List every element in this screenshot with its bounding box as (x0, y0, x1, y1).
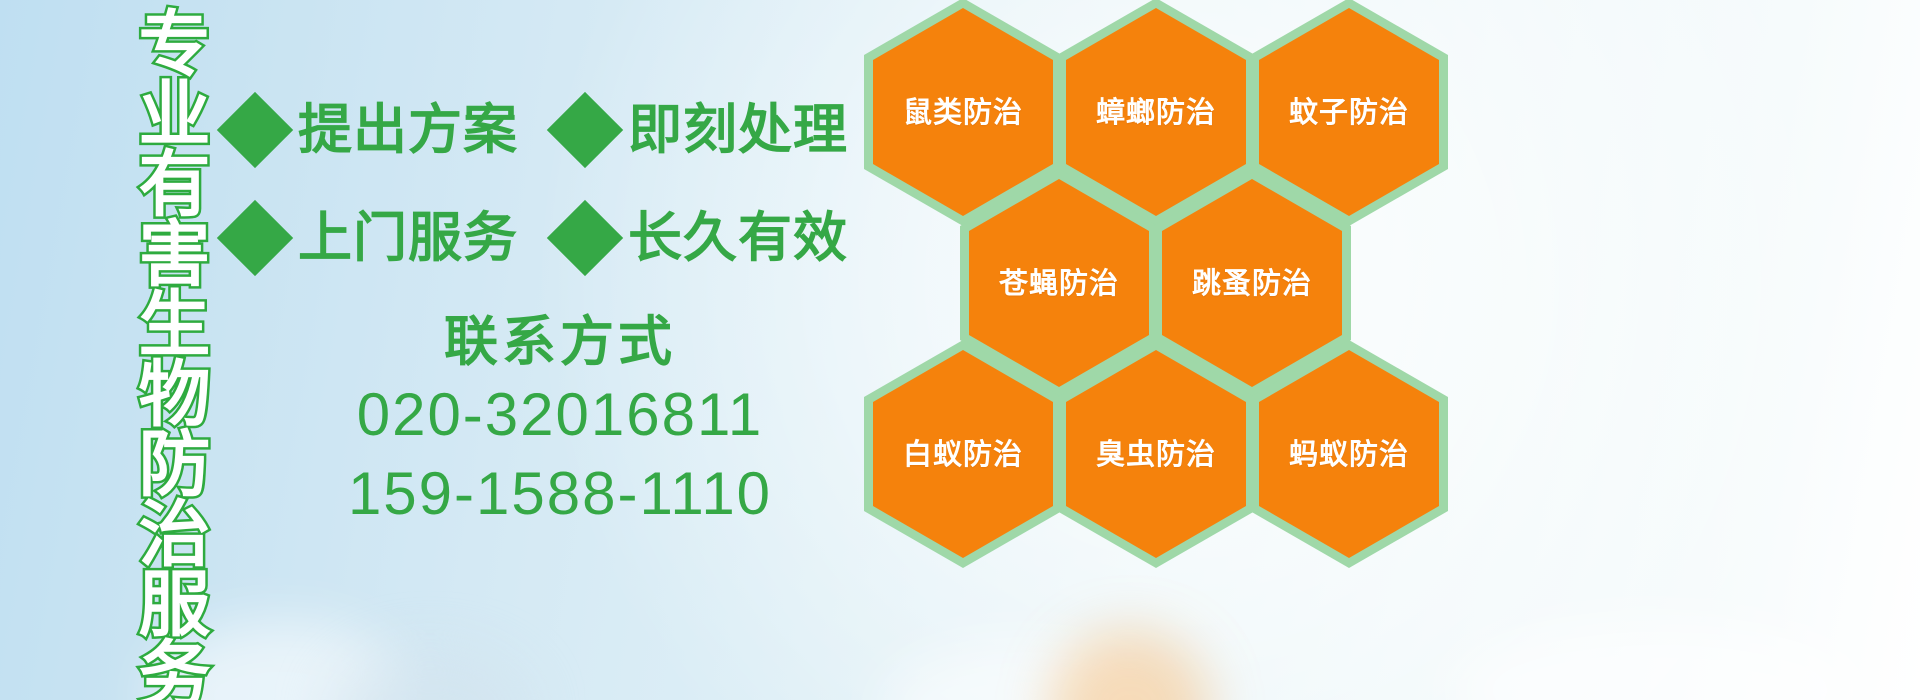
contact-heading: 联系方式 (300, 310, 820, 375)
hex-label: 跳蚤防治 (1192, 269, 1312, 298)
feature-row: 上门服务 长久有效 (228, 184, 868, 292)
vertical-headline: 专业有害生物防治服务 (112, 6, 204, 700)
background-blur-blob (330, 650, 530, 700)
feature-label: 即刻处理 (628, 103, 848, 157)
feature-item-door-to-door-service: 上门服务 (228, 211, 518, 265)
diamond-bullet-icon (547, 200, 623, 276)
hex-label: 臭虫防治 (1096, 440, 1216, 469)
feature-label: 上门服务 (298, 211, 518, 265)
feature-label: 提出方案 (298, 103, 518, 157)
feature-row: 提出方案 即刻处理 (228, 76, 868, 184)
feature-label: 长久有效 (628, 211, 848, 265)
background-blur-blob (1450, 620, 1870, 700)
diamond-bullet-icon (217, 200, 293, 276)
contact-phone-mobile[interactable]: 159-1588-1110 (300, 454, 820, 533)
contact-block: 联系方式 020-32016811 159-1588-1110 (300, 310, 820, 533)
hex-label: 白蚁防治 (903, 440, 1023, 469)
hex-cell-bedbug-control[interactable]: 臭虫防治 (1057, 340, 1255, 568)
feature-item-long-lasting-effect: 长久有效 (558, 211, 848, 265)
feature-list: 提出方案 即刻处理 上门服务 长久有效 (228, 76, 868, 292)
diamond-bullet-icon (547, 92, 623, 168)
hex-label: 蚂蚁防治 (1289, 440, 1409, 469)
pest-control-banner: 专业有害生物防治服务 提出方案 即刻处理 上门服务 长久有效 联 (0, 0, 1920, 700)
hex-cell-termite-control[interactable]: 白蚁防治 (864, 340, 1062, 568)
diamond-bullet-icon (217, 92, 293, 168)
hex-label: 蟑螂防治 (1096, 98, 1216, 127)
hex-label: 鼠类防治 (903, 98, 1023, 127)
feature-item-immediate-handling: 即刻处理 (558, 103, 848, 157)
service-honeycomb-grid: 鼠类防治 蟑螂防治 蚊子防治 苍蝇防治 跳蚤防治 (858, 0, 1478, 700)
contact-phone-landline[interactable]: 020-32016811 (300, 375, 820, 454)
feature-item-propose-plan: 提出方案 (228, 103, 518, 157)
hex-cell-ant-control[interactable]: 蚂蚁防治 (1250, 340, 1448, 568)
hex-label: 苍蝇防治 (999, 269, 1119, 298)
hex-label: 蚊子防治 (1289, 98, 1409, 127)
